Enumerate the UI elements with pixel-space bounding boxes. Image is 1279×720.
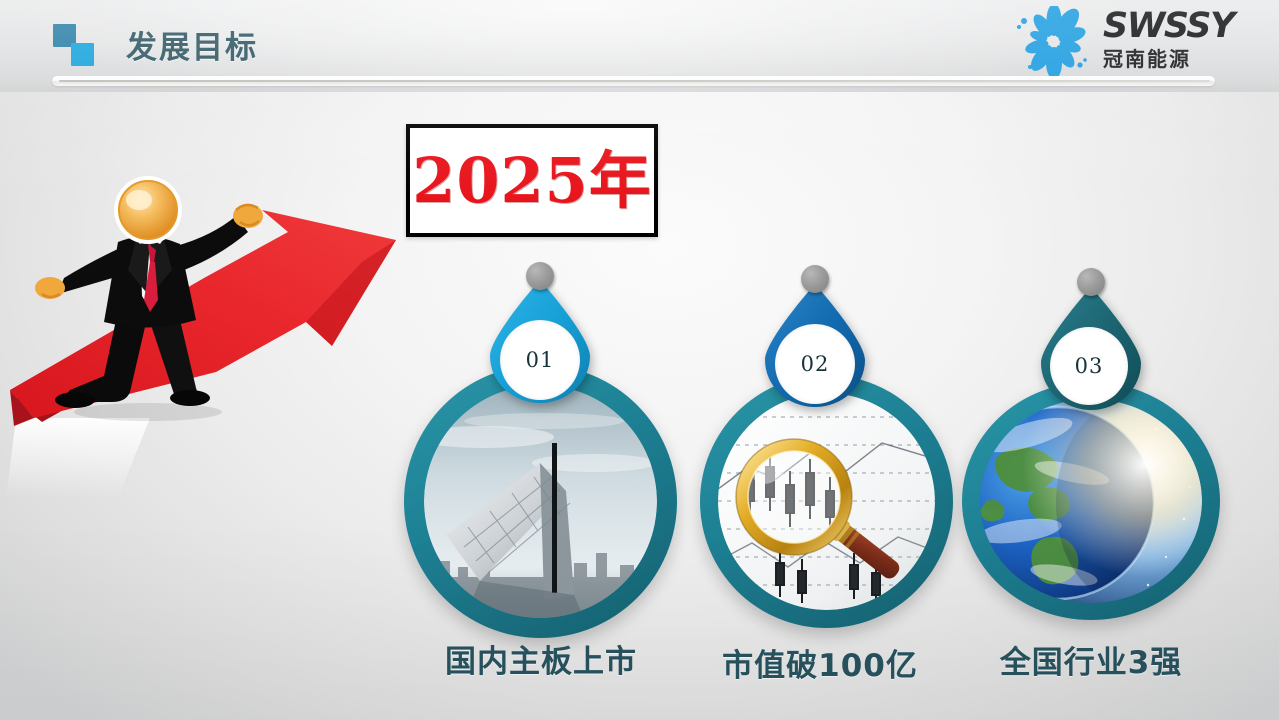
goal-caption-03: 全国行业3强 [966,637,1216,682]
goal-pin-head-01 [526,262,554,290]
goal-photo-ring-03 [962,382,1220,620]
goal-number-03: 03 [1075,354,1104,378]
logo-text-block: SWSSY 冠南能源 [1103,8,1263,72]
skyscraper-blueprint-photo [424,385,657,618]
goal-photo-ring-01 [404,365,677,638]
logo-chinese-name: 冠南能源 [1103,46,1263,72]
goal-number-01: 01 [526,348,555,372]
petal-burst-logo-icon [1007,6,1101,76]
square-light-icon [71,43,94,66]
year-badge-label: 2025年 [412,149,652,213]
growth-arrow-businessman-illustration [0,150,420,550]
slide-canvas: 发展目标 [0,0,1279,720]
header-squares-decoration [53,24,111,66]
goal-number-badge-03: 03 [1050,327,1128,405]
brand-logo: SWSSY 冠南能源 [1007,4,1267,78]
goal-pin-head-02 [801,265,829,293]
goal-caption-01: 国内主板上市 [391,636,691,681]
goal-number-02: 02 [801,352,830,376]
goal-number-badge-02: 02 [775,324,855,404]
goal-photo-ring-02 [700,375,953,628]
logo-wordmark: SWSSY [1103,8,1263,44]
earth-from-space-photo [980,399,1202,603]
goal-caption-02: 市值破100亿 [690,640,950,685]
magnifier-stock-chart-photo [718,393,935,610]
page-title: 发展目标 [126,22,258,67]
goal-number-badge-01: 01 [500,320,580,400]
goal-pin-head-03 [1077,268,1105,296]
year-badge: 2025年 [406,124,658,237]
